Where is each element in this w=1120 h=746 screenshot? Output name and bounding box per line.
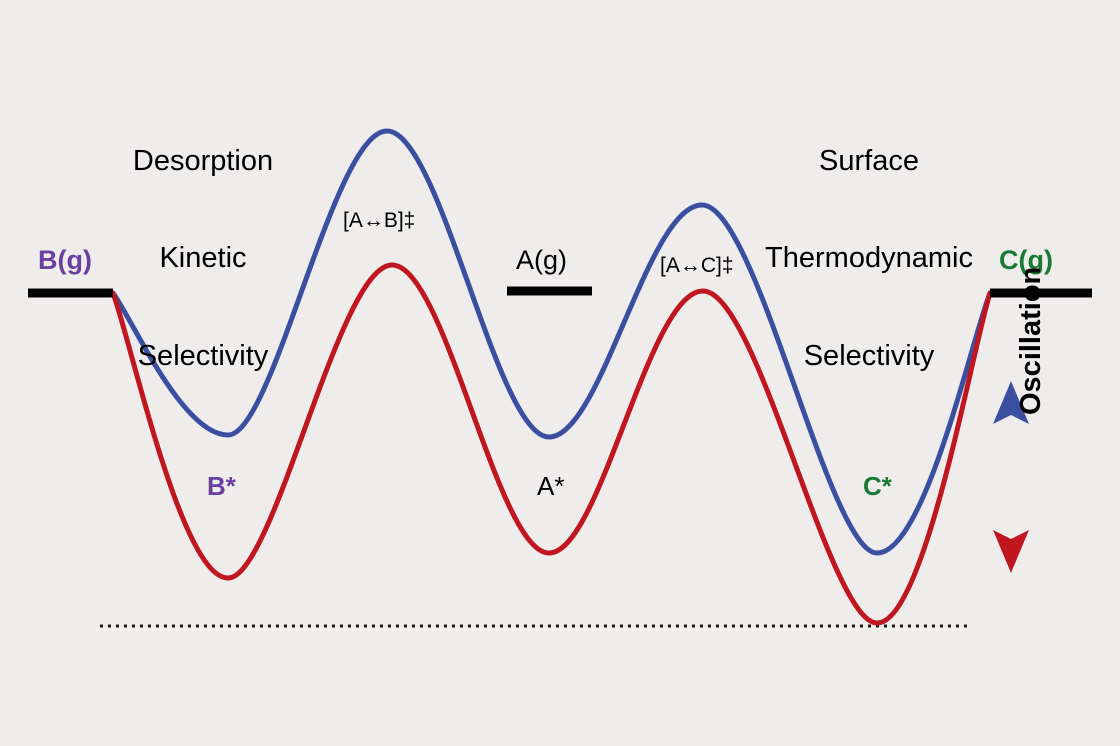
label-transition-state-ab: [A↔B]‡	[343, 209, 415, 233]
heading-right-line2: Thermodynamic	[738, 242, 1000, 274]
label-a-gas: A(g)	[516, 245, 567, 275]
label-c-surface: C*	[863, 472, 892, 501]
energy-diagram-figure: Desorption Kinetic Selectivity Surface T…	[0, 0, 1120, 746]
heading-right-line3: Selectivity	[738, 340, 1000, 372]
heading-right-line1: Surface	[738, 145, 1000, 177]
heading-surface-thermodynamic-selectivity: Surface Thermodynamic Selectivity	[738, 80, 1000, 437]
label-a-surface: A*	[537, 472, 564, 501]
heading-desorption-kinetic-selectivity: Desorption Kinetic Selectivity	[83, 80, 323, 437]
heading-left-line1: Desorption	[83, 145, 323, 177]
label-b-gas: B(g)	[38, 245, 92, 275]
label-transition-state-ac: [A↔C]‡	[660, 254, 734, 278]
label-oscillation: Oscillation	[1015, 267, 1048, 415]
heading-left-line2: Kinetic	[83, 242, 323, 274]
heading-left-line3: Selectivity	[83, 340, 323, 372]
label-b-surface: B*	[207, 472, 236, 501]
